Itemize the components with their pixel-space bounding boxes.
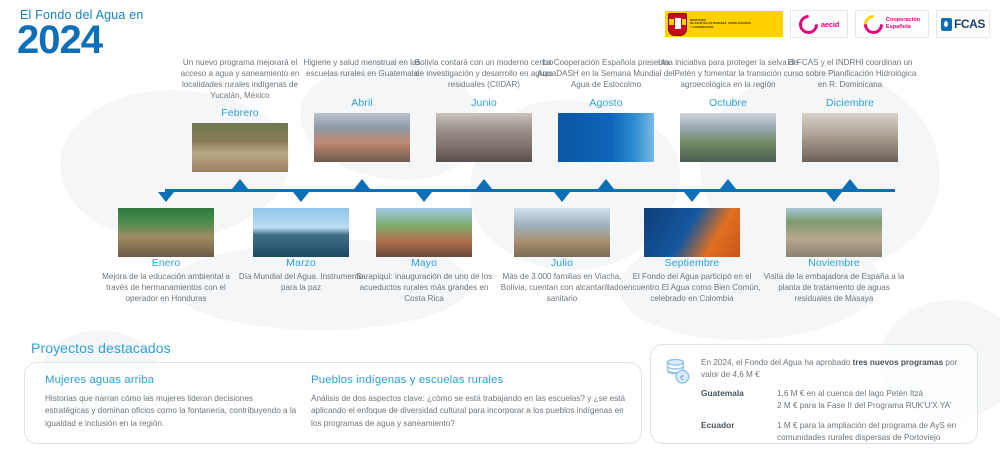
timeline-marker-up [476, 179, 492, 189]
cooperacion-label: Cooperación Española [886, 17, 920, 31]
timeline-marker-down [416, 192, 432, 202]
timeline-marker-up [354, 179, 370, 189]
funding-amounts: 1,6 M € en al cuenca del lago Petén Itzá… [777, 388, 952, 413]
project-title: Pueblos indígenas y escuelas rurales [311, 374, 631, 386]
funding-card: € En 2024, el Fondo del Agua ha aprobado… [650, 344, 978, 444]
timeline-month-label: Diciembre [775, 97, 925, 109]
timeline-marker-up [842, 179, 858, 189]
timeline-axis [165, 189, 895, 192]
funding-country: Ecuador [701, 420, 777, 445]
water-drop-icon [941, 18, 952, 31]
page-header: El Fondo del Agua en 2024 MINISTERIODE A… [0, 0, 1000, 56]
funding-intro-bold: tres nuevos programas [853, 358, 944, 367]
cooperacion-espanola-logo: Cooperación Española [855, 10, 929, 38]
timeline-month-label: Noviembre [759, 257, 909, 269]
page-title: 2024 [17, 20, 102, 60]
timeline-month-label: Julio [487, 257, 637, 269]
timeline-entry-septiembre[interactable]: SeptiembreEl Fondo del Agua participó en… [617, 208, 767, 305]
spain-coat-of-arms-icon [668, 13, 687, 36]
timeline-photo [314, 113, 410, 162]
timeline-month-label: Enero [91, 257, 241, 269]
timeline-photo [644, 208, 740, 257]
funding-row: Ecuador1 M € para la ampliación del prog… [701, 420, 967, 445]
timeline-photo [436, 113, 532, 162]
timeline-month-label: Mayo [349, 257, 499, 269]
stacked-coins-icon: € [663, 357, 693, 385]
timeline-marker-up [720, 179, 736, 189]
projects-section-title: Proyectos destacados [31, 340, 171, 356]
funding-rows: Guatemala1,6 M € en al cuenca del lago P… [701, 388, 967, 451]
project-body: Análisis de dos aspectos clave: ¿cómo se… [311, 393, 631, 430]
timeline-marker-down [826, 192, 842, 202]
timeline-entry-julio[interactable]: JulioMás de 3.000 familias en Viacha, Bo… [487, 208, 637, 305]
timeline-photo [802, 113, 898, 162]
timeline-entry-diciembre[interactable]: El FCAS y el INDRHI coordinan un curso s… [775, 58, 925, 162]
project-title: Mujeres aguas arriba [45, 374, 297, 386]
timeline-marker-down [158, 192, 174, 202]
project-item-pueblos: Pueblos indígenas y escuelas rurales Aná… [311, 374, 631, 430]
timeline-marker-up [232, 179, 248, 189]
funding-amounts: 1 M € para la ampliación del programa de… [777, 420, 967, 445]
fcas-logo: FCAS [936, 10, 990, 38]
funding-amount-line: 2 M € para la Fase II del Programa RUK'U… [777, 400, 952, 412]
funding-amount-line: 1,6 M € en al cuenca del lago Petén Itzá [777, 388, 952, 400]
timeline-photo [253, 208, 349, 257]
timeline-marker-down [684, 192, 700, 202]
aecid-logo: aecid [790, 10, 848, 38]
funding-intro: En 2024, el Fondo del Agua ha aprobado t… [701, 357, 963, 382]
timeline-caption: Más de 3.000 familias en Viacha, Bolivia… [487, 272, 637, 305]
timeline-photo [376, 208, 472, 257]
timeline-entry-noviembre[interactable]: NoviembreVisita de la embajadora de Espa… [759, 208, 909, 305]
fcas-label: FCAS [954, 17, 985, 31]
funding-amount-line: 1 M € para la ampliación del programa de… [777, 420, 967, 445]
funding-intro-pre: En 2024, el Fondo del Agua ha aprobado [701, 358, 853, 367]
gobierno-espana-logo: MINISTERIODE ASUNTOS EXTERIORES, UNIÓN E… [665, 11, 783, 37]
projects-card: Mujeres aguas arriba Historias que narra… [24, 362, 642, 444]
project-item-mujeres: Mujeres aguas arriba Historias que narra… [45, 374, 297, 430]
funding-country: Guatemala [701, 388, 777, 413]
aecid-c-icon [795, 11, 822, 38]
timeline-photo [118, 208, 214, 257]
timeline-marker-down [554, 192, 570, 202]
project-body: Historias que narran cómo las mujeres li… [45, 393, 297, 430]
aecid-label: aecid [821, 20, 839, 29]
timeline-entry-enero[interactable]: EneroMejora de la educación ambiental a … [91, 208, 241, 305]
timeline-caption: Sarapiquí: inauguración de uno de los ac… [349, 272, 499, 305]
ministry-label: MINISTERIODE ASUNTOS EXTERIORES, UNIÓN E… [690, 19, 751, 29]
svg-text:€: € [680, 374, 684, 382]
timeline-month-label: Septiembre [617, 257, 767, 269]
timeline-marker-down [293, 192, 309, 202]
timeline-photo [192, 123, 288, 172]
funding-row: Guatemala1,6 M € en al cuenca del lago P… [701, 388, 967, 413]
cooperacion-c-icon [860, 11, 887, 38]
timeline-photo [680, 113, 776, 162]
timeline-caption: Visita de la embajadora de España a la p… [759, 272, 909, 305]
timeline-entry-mayo[interactable]: MayoSarapiquí: inauguración de uno de lo… [349, 208, 499, 305]
timeline-caption: El FCAS y el INDRHI coordinan un curso s… [775, 58, 925, 92]
timeline-caption: El Fondo del Agua participó en el encuen… [617, 272, 767, 305]
timeline-marker-up [598, 179, 614, 189]
timeline-caption: Mejora de la educación ambiental a travé… [91, 272, 241, 305]
timeline-photo [514, 208, 610, 257]
timeline-photo [558, 113, 654, 162]
logo-strip: MINISTERIODE ASUNTOS EXTERIORES, UNIÓN E… [665, 10, 990, 38]
timeline-photo [786, 208, 882, 257]
